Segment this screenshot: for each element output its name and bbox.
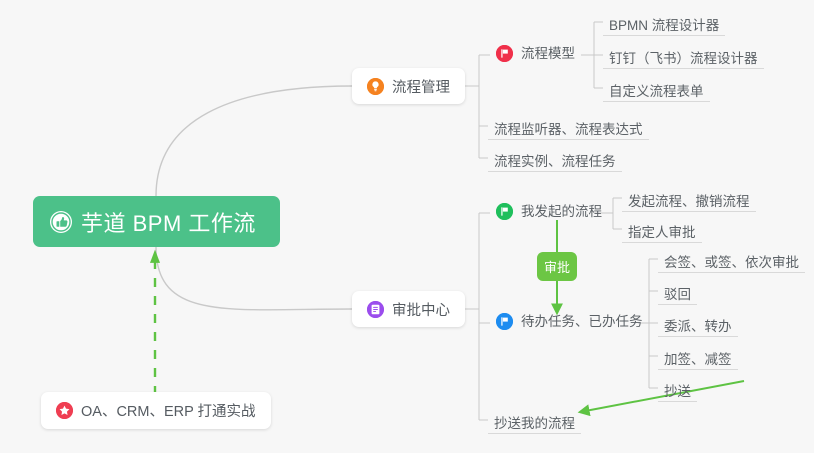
leaf-add-remove-sign[interactable]: 加签、减签 <box>658 344 738 370</box>
leaf-label-bpmn-designer: BPMN 流程设计器 <box>609 19 719 33</box>
leaf-label-add-remove-sign: 加签、减签 <box>664 353 732 367</box>
leaf-cc-to-me-process[interactable]: 抄送我的流程 <box>488 408 581 434</box>
leaf-reject[interactable]: 驳回 <box>658 279 697 305</box>
leaf-countersign-or-sequential[interactable]: 会签、或签、依次审批 <box>658 247 805 273</box>
flag-icon <box>496 313 513 330</box>
node-label-my-initiated-process: 我发起的流程 <box>521 205 602 219</box>
branch-label-process-management: 流程管理 <box>392 76 450 97</box>
leaf-label-dingtalk-feishu-designer: 钉钉（飞书）流程设计器 <box>609 52 758 66</box>
leaf-label-process-listener-expression: 流程监听器、流程表达式 <box>494 123 643 137</box>
root-label: 芋道 BPM 工作流 <box>81 206 256 238</box>
leaf-start-cancel-process[interactable]: 发起流程、撤销流程 <box>622 186 756 212</box>
flag-icon <box>496 45 513 62</box>
branch-node-process-management[interactable]: 流程管理 <box>352 68 465 104</box>
leaf-dingtalk-feishu-designer[interactable]: 钉钉（飞书）流程设计器 <box>603 43 764 69</box>
root-node[interactable]: 芋道 BPM 工作流 <box>33 196 280 247</box>
branch-node-approval-center[interactable]: 审批中心 <box>352 291 465 327</box>
callout-label-approval: 审批 <box>544 257 570 276</box>
node-label-todo-done-tasks: 待办任务、已办任务 <box>521 315 643 329</box>
footnote-node-oa-crm-erp[interactable]: OA、CRM、ERP 打通实战 <box>41 392 271 429</box>
callout-approval[interactable]: 审批 <box>537 252 577 281</box>
leaf-label-reject: 驳回 <box>664 288 691 302</box>
link-root-to-approval-center <box>156 247 352 310</box>
footnote-label-oa-crm-erp: OA、CRM、ERP 打通实战 <box>81 400 256 421</box>
mindmap-canvas: 芋道 BPM 工作流 流程管理 流程模型 BPMN 流程设计器 钉钉（飞书）流程 <box>0 0 814 453</box>
node-my-initiated-process[interactable]: 我发起的流程 <box>490 201 608 225</box>
leaf-process-listener-expression[interactable]: 流程监听器、流程表达式 <box>488 114 649 140</box>
leaf-label-start-cancel-process: 发起流程、撤销流程 <box>628 195 750 209</box>
leaf-assigned-approval[interactable]: 指定人审批 <box>622 217 702 243</box>
leaf-label-delegate-transfer: 委派、转办 <box>664 320 732 334</box>
leaf-label-cc: 抄送 <box>664 385 691 399</box>
leaf-process-instance-task[interactable]: 流程实例、流程任务 <box>488 146 622 172</box>
link-root-to-process-management <box>156 86 352 196</box>
star-icon <box>56 402 73 419</box>
leaf-label-cc-to-me-process: 抄送我的流程 <box>494 417 575 431</box>
leaf-delegate-transfer[interactable]: 委派、转办 <box>658 311 738 337</box>
thumbs-up-icon <box>50 211 72 233</box>
leaf-label-process-instance-task: 流程实例、流程任务 <box>494 155 616 169</box>
leaf-label-countersign-or-sequential: 会签、或签、依次审批 <box>664 256 799 270</box>
node-label-process-model: 流程模型 <box>521 47 575 61</box>
node-process-model[interactable]: 流程模型 <box>490 43 581 67</box>
branch-label-approval-center: 审批中心 <box>392 299 450 320</box>
leaf-bpmn-designer[interactable]: BPMN 流程设计器 <box>603 10 725 36</box>
node-todo-done-tasks[interactable]: 待办任务、已办任务 <box>490 311 649 335</box>
flag-icon <box>496 203 513 220</box>
leaf-label-custom-process-form: 自定义流程表单 <box>609 85 704 99</box>
document-icon <box>367 301 384 318</box>
lightbulb-icon <box>367 78 384 95</box>
leaf-cc[interactable]: 抄送 <box>658 376 697 402</box>
leaf-label-assigned-approval: 指定人审批 <box>628 226 696 240</box>
leaf-custom-process-form[interactable]: 自定义流程表单 <box>603 76 710 102</box>
